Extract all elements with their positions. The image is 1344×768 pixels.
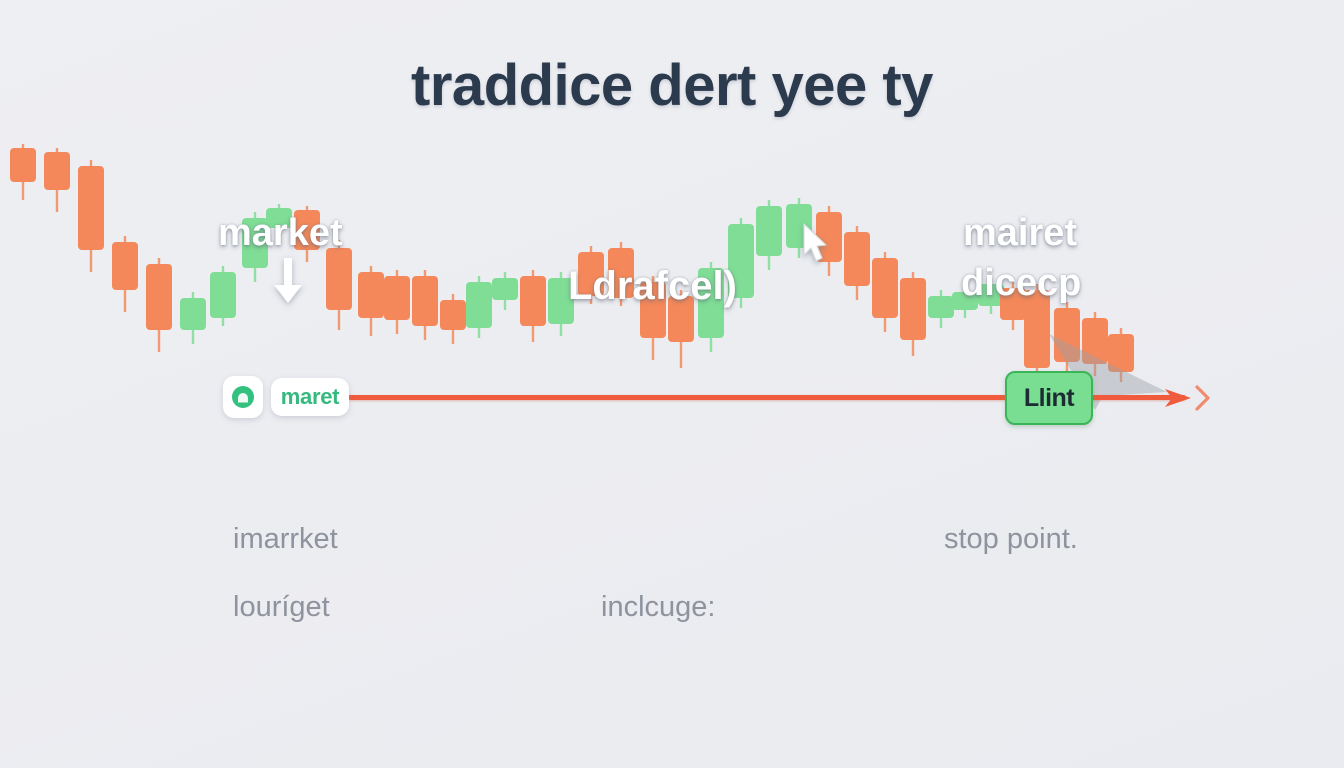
candle-body: [1082, 318, 1108, 364]
caption-imarrket: imarrket: [233, 523, 338, 556]
candle-body: [928, 296, 954, 318]
candle-body: [844, 232, 870, 286]
candle-body: [1024, 290, 1050, 368]
candle-body: [952, 292, 978, 310]
screenshot-root: traddice dert yee ty market Ldrafcel) ma…: [0, 0, 1344, 768]
candle-body: [44, 152, 70, 190]
candle-body: [146, 264, 172, 330]
candle-body: [358, 272, 384, 318]
candle-body: [466, 282, 492, 328]
mouse-cursor-icon: [800, 222, 830, 264]
candle-body: [668, 296, 694, 342]
candle-body: [640, 282, 666, 338]
caption-inclcuge: inclcuge:: [601, 591, 715, 624]
page-title: traddice dert yee ty: [0, 52, 1344, 119]
arrow-down-icon: [272, 258, 304, 304]
caption-stop-point: stop point.: [944, 523, 1078, 556]
candle-body: [872, 258, 898, 318]
candlestick-chart[interactable]: [0, 140, 1344, 400]
candle-body: [1000, 288, 1026, 320]
candle-body: [326, 248, 352, 310]
candle-body: [698, 268, 724, 338]
chevron-right-icon: [1192, 382, 1214, 414]
lock-icon: [231, 385, 255, 409]
candle-body: [112, 242, 138, 290]
arrow-right-icon: [1163, 384, 1193, 412]
caption-louriget: louríget: [233, 591, 330, 624]
candle-body: [266, 208, 292, 228]
candle-body: [78, 166, 104, 250]
candle-body: [608, 248, 634, 298]
candle-series: [10, 144, 1134, 382]
candle-body: [492, 278, 518, 300]
limit-button-label: Llint: [1024, 384, 1074, 413]
candle-body: [1108, 334, 1134, 372]
candle-body: [548, 278, 574, 324]
lock-badge[interactable]: [223, 376, 263, 418]
candle-body: [384, 276, 410, 320]
candle-body: [440, 300, 466, 330]
candle-body: [578, 252, 604, 296]
maret-badge-label: maret: [281, 384, 339, 410]
candle-body: [210, 272, 236, 318]
candle-body: [242, 218, 268, 268]
candle-body: [1054, 308, 1080, 362]
candle-body: [900, 278, 926, 340]
candle-body: [412, 276, 438, 326]
candle-body: [180, 298, 206, 330]
candle-body: [294, 210, 320, 250]
candle-body: [756, 206, 782, 256]
candle-body: [10, 148, 36, 182]
maret-badge[interactable]: maret: [271, 378, 349, 416]
limit-button[interactable]: Llint: [1005, 371, 1093, 425]
price-line-row: [0, 374, 1344, 424]
candle-body: [728, 224, 754, 298]
candle-body: [520, 276, 546, 326]
candlestick-chart-svg: [0, 140, 1344, 400]
